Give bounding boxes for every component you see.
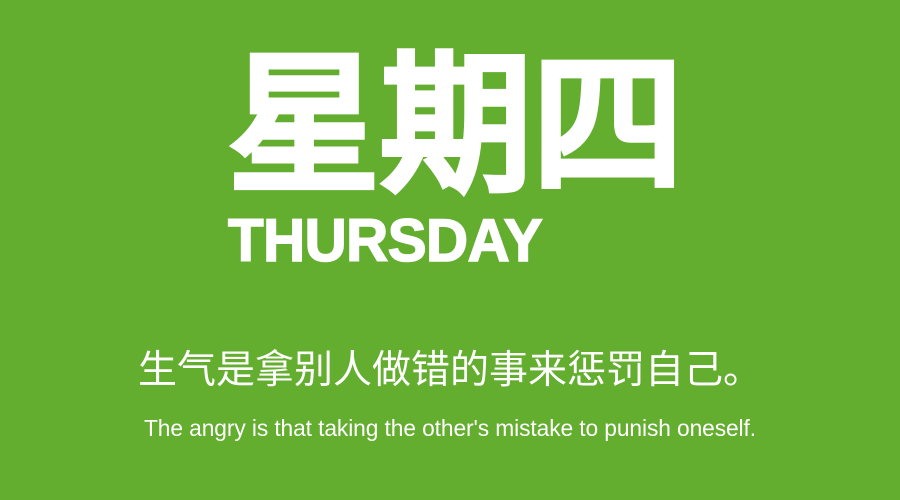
day-title-block: 星期四 THURSDAY xyxy=(228,46,698,270)
quote-text-english: The angry is that taking the other's mis… xyxy=(5,414,896,442)
day-name-chinese: 星期四 xyxy=(228,46,698,206)
quote-text-chinese: 生气是拿别人做错的事来惩罚自己。 xyxy=(0,348,900,394)
quote-block: 生气是拿别人做错的事来惩罚自己。 The angry is that takin… xyxy=(0,348,900,442)
day-name-english: THURSDAY xyxy=(228,212,684,270)
daily-quote-card: 星期四 THURSDAY 生气是拿别人做错的事来惩罚自己。 The angry … xyxy=(0,0,900,500)
